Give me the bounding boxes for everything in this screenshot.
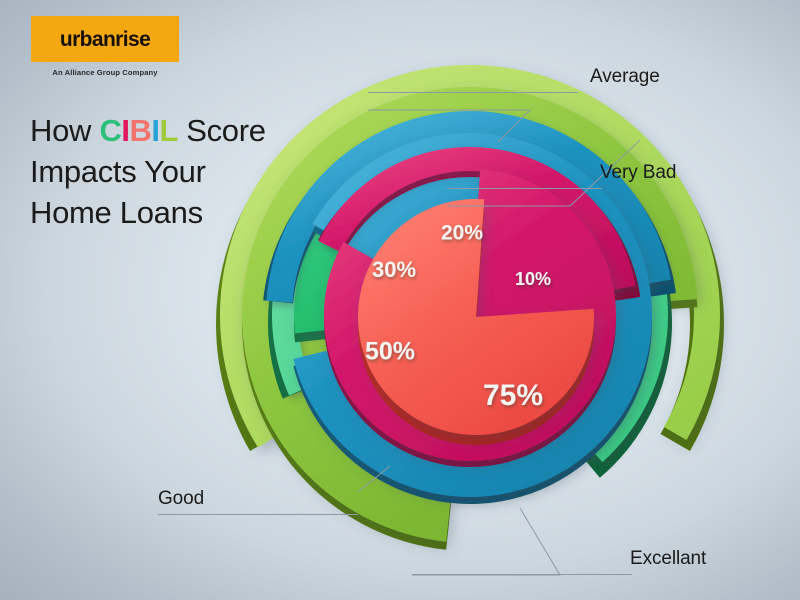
callout-very-bad: Very Bad (600, 162, 676, 189)
callout-excellant-rule (412, 574, 632, 575)
callout-very-bad-label: Very Bad (600, 162, 676, 184)
slice-value-good-inner: 30% (372, 257, 416, 282)
callout-good-rule (158, 514, 358, 515)
callout-excellant-label: Excellant (630, 548, 706, 570)
callout-very-bad-rule (447, 188, 602, 189)
callout-excellant: Excellant (630, 548, 706, 575)
slice-value-excellant: 75% (483, 379, 543, 412)
callout-good: Good (158, 488, 358, 515)
cibil-pie-chart: 10%20%30%50%75% (0, 0, 800, 600)
infographic-canvas: urbanrise An Alliance Group Company How … (0, 0, 800, 600)
callout-good-label: Good (158, 488, 358, 510)
slice-value-good: 50% (365, 338, 415, 366)
callout-average: Average (590, 66, 660, 93)
callout-average-label: Average (590, 66, 660, 88)
slice-value-average: 20% (441, 222, 483, 245)
callout-average-rule (368, 92, 578, 93)
slice-value-very-bad: 10% (515, 269, 551, 289)
